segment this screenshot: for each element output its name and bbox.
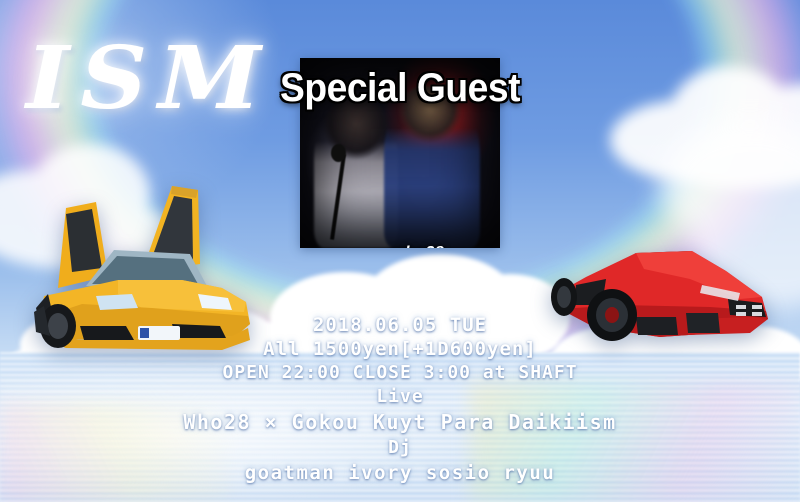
- event-price: All 1500yen[+1D600yen]: [0, 337, 800, 361]
- photo-caption-who28: who28: [392, 244, 444, 248]
- live-lineup: Who28 × Gokou Kuyt Para Daikiism: [0, 409, 800, 436]
- event-info-block: 2018.06.05 TUE All 1500yen[+1D600yen] OP…: [0, 314, 800, 486]
- special-guest-headline: Special Guest: [28, 66, 772, 111]
- dj-label: Dj: [0, 436, 800, 460]
- dj-lineup: goatman ivory sosio ryuu: [0, 460, 800, 486]
- flyer-canvas: ISM: [0, 0, 800, 502]
- event-date: 2018.06.05 TUE: [0, 314, 800, 337]
- event-hours-venue: OPEN 22:00 CLOSE 3:00 at SHAFT: [0, 361, 800, 385]
- live-label: Live: [0, 385, 800, 409]
